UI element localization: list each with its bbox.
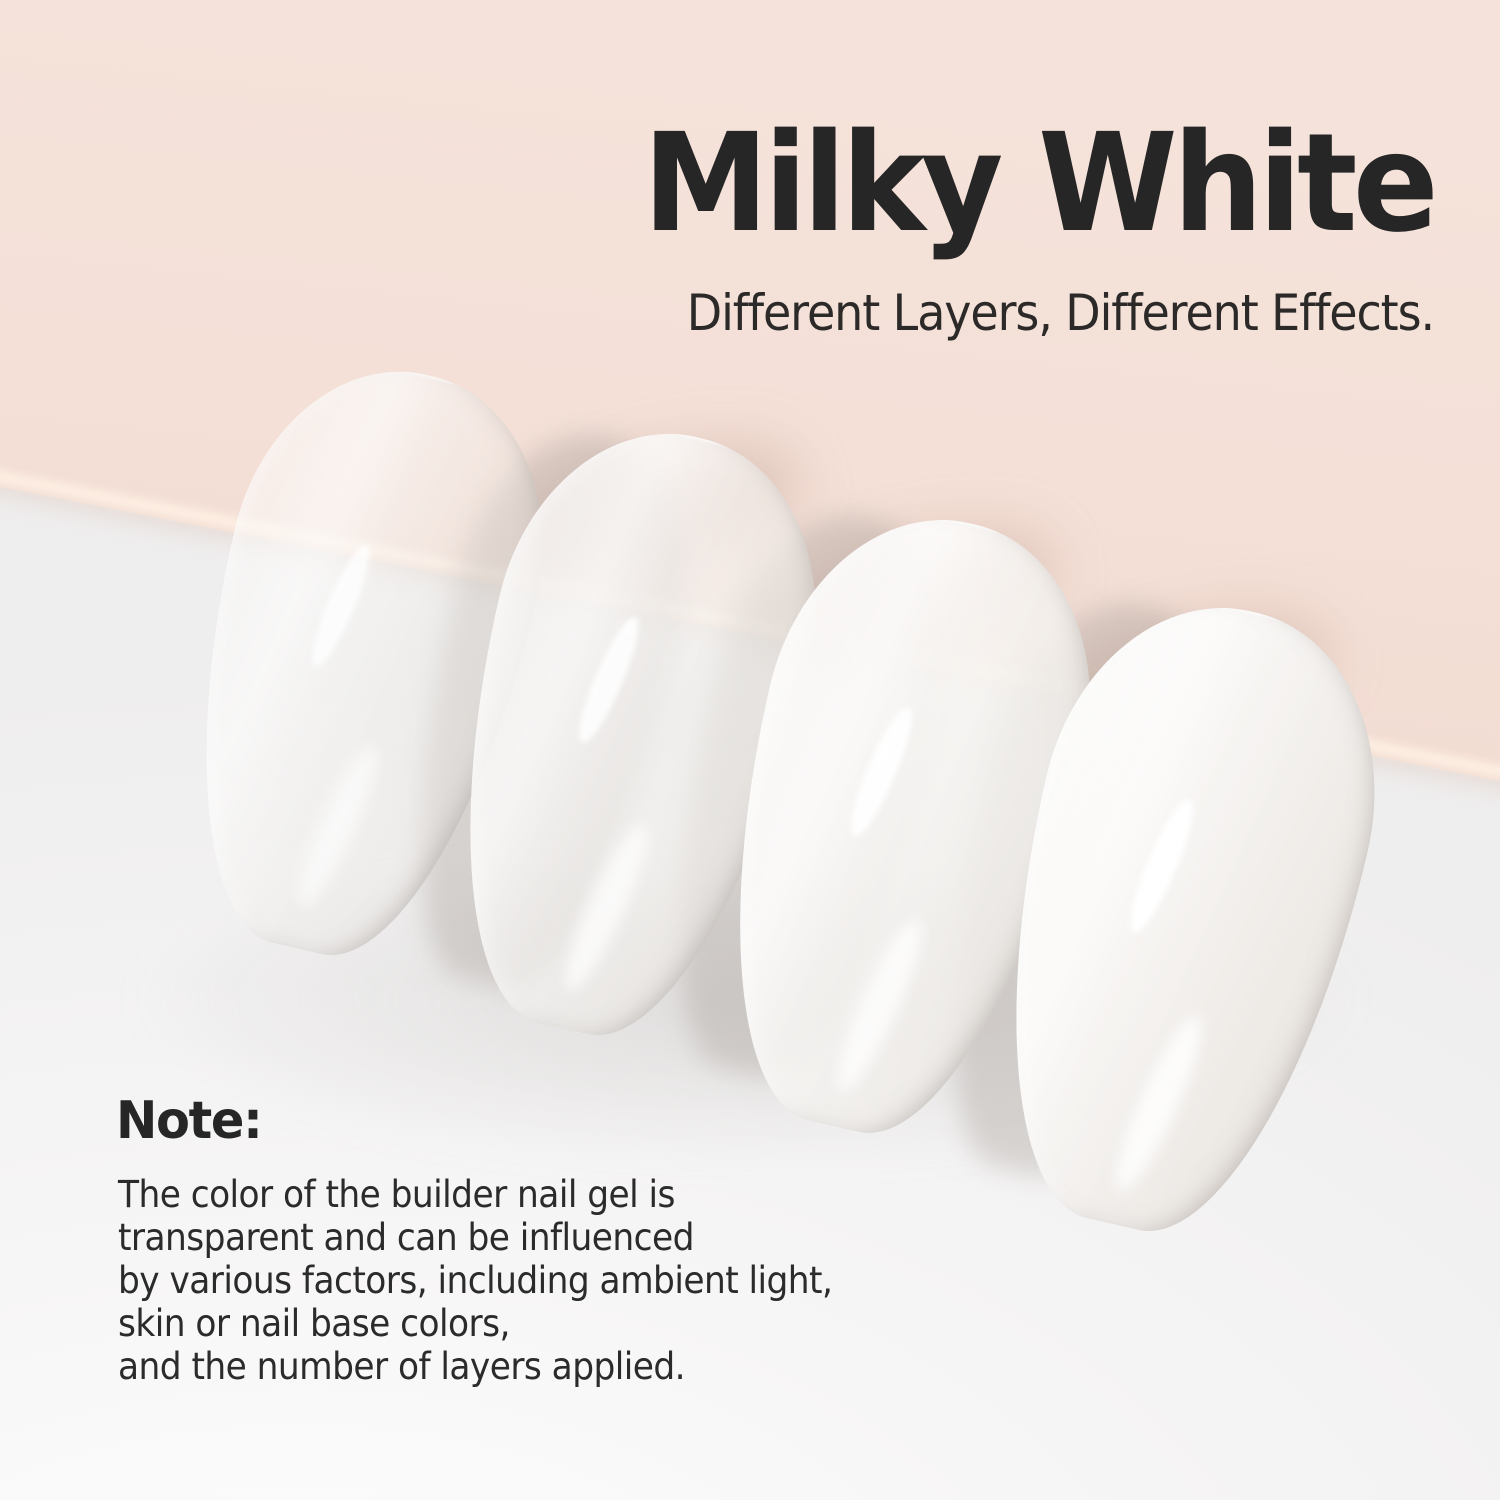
note-body: The color of the builder nail gel is tra… — [118, 1173, 1012, 1388]
page-subtitle: Different Layers, Different Effects. — [422, 288, 1434, 338]
note-block: Note: The color of the builder nail gel … — [112, 1095, 1012, 1388]
note-line: skin or nail base colors, — [118, 1302, 949, 1345]
note-line: by various factors, including ambient li… — [118, 1259, 949, 1302]
note-line: and the number of layers applied. — [118, 1345, 949, 1388]
note-line: transparent and can be influenced — [118, 1216, 949, 1259]
note-heading: Note: — [116, 1095, 967, 1147]
product-marketing-image: Milky White Different Layers, Different … — [0, 0, 1500, 1500]
page-title: Milky White — [411, 116, 1434, 252]
note-line: The color of the builder nail gel is — [118, 1173, 949, 1216]
